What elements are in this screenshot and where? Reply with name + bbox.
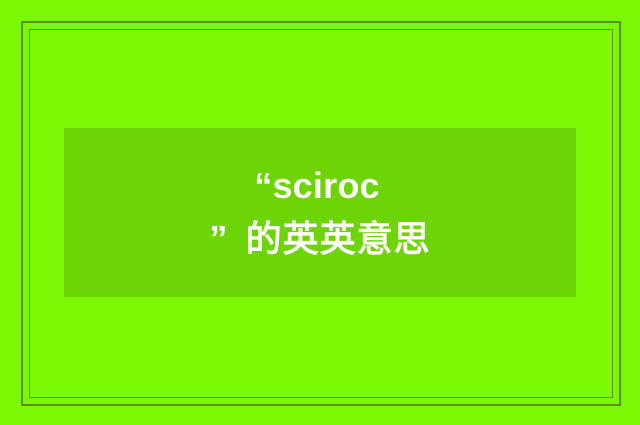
headline-band: “sciroc ”的英英意思 [64, 128, 576, 297]
title-card: “sciroc ”的英英意思 [0, 0, 640, 425]
headline-cjk-text: 的英英意思 [246, 221, 431, 258]
headline-line-2: ”的英英意思 [209, 221, 430, 258]
page-title: “sciroc ”的英英意思 [209, 168, 430, 257]
headline-line-1: “sciroc [209, 168, 430, 205]
closing-quote-glyph: ” [209, 221, 227, 258]
